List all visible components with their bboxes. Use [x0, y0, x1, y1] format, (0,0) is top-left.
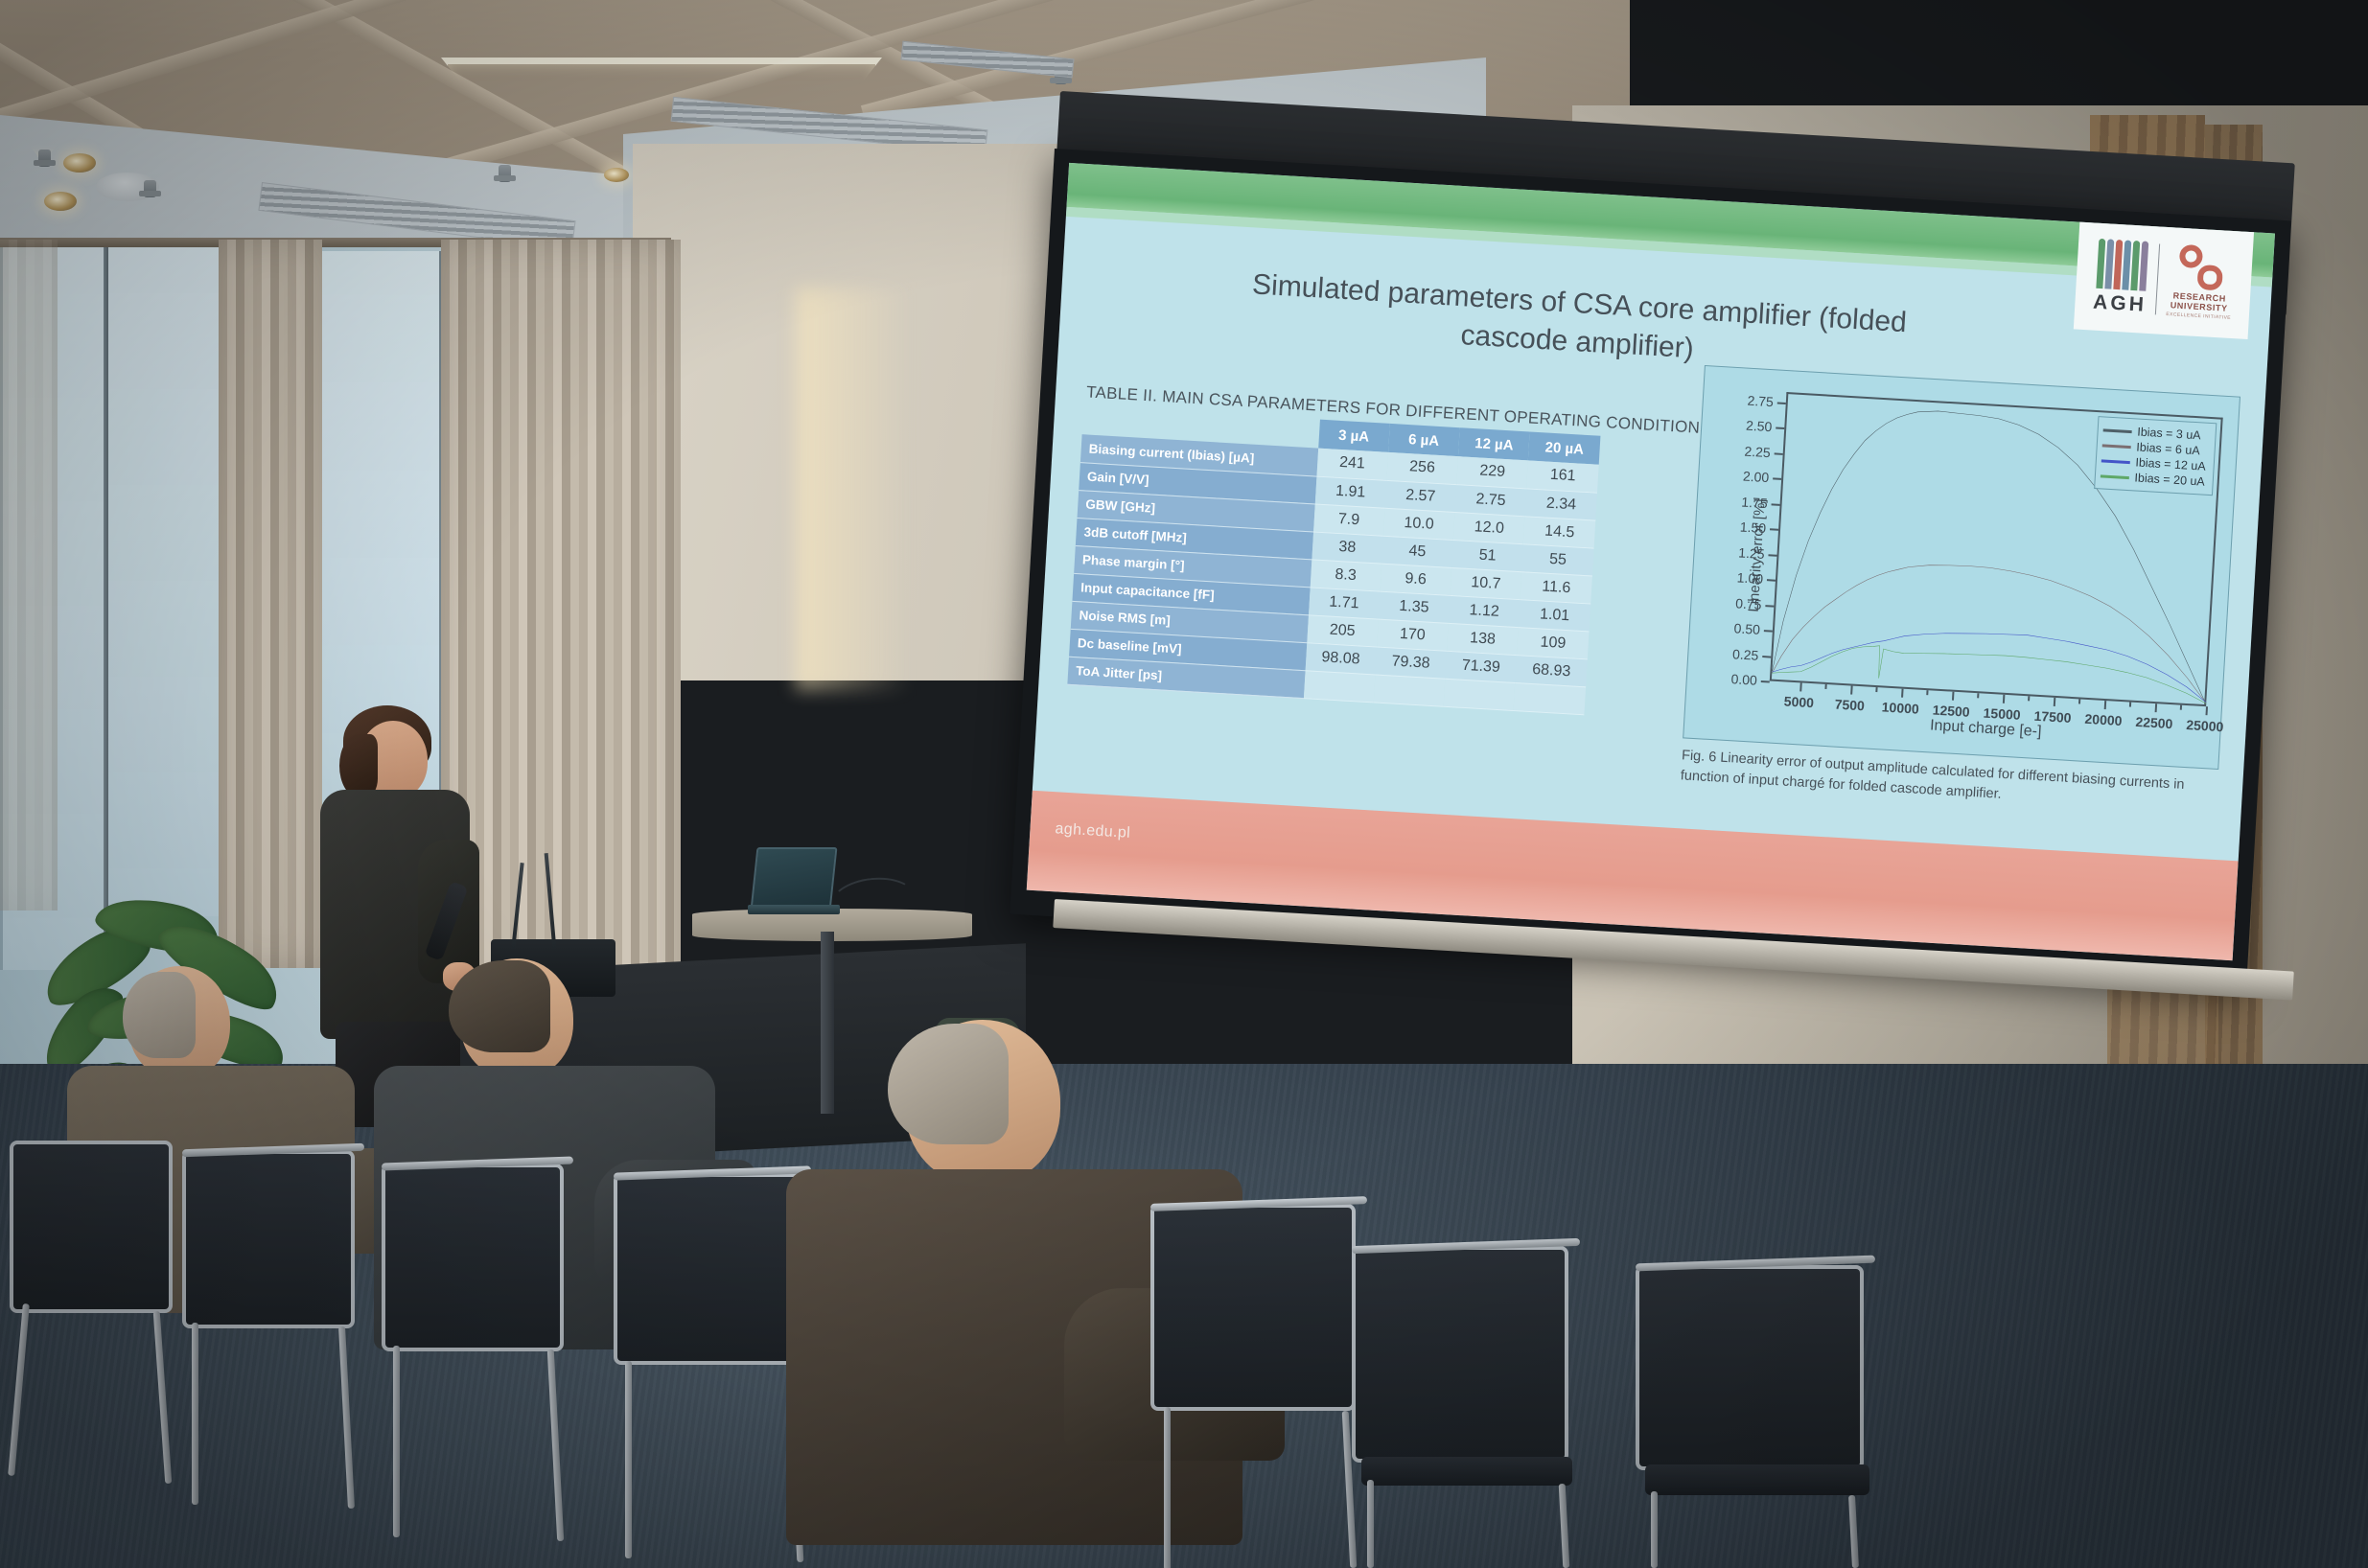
presenter-table-stem [821, 932, 834, 1114]
chart-y-tick-label: 2.75 [1747, 392, 1774, 409]
projection-screen: AGH RESEARCH UNIVERSITY EXCELLENCE INITI… [1010, 149, 2291, 986]
chair-leg-3a [393, 1346, 400, 1537]
linearity-error-chart: Linearity error [%] Ibias = 3 uAIbias = … [1683, 365, 2240, 770]
ru-line-3: EXCELLENCE INITIATIVE [2166, 311, 2231, 321]
table-cell: 9.6 [1380, 564, 1451, 595]
chart-x-tick-label: 5000 [1783, 693, 1814, 710]
table-cell: 1.91 [1314, 476, 1386, 508]
table-cell: 12.0 [1453, 512, 1525, 543]
chair-back-4 [614, 1173, 801, 1365]
chair-leg-2a [192, 1323, 198, 1505]
table-cell: 14.5 [1523, 516, 1595, 547]
ru-line-2: UNIVERSITY [2170, 300, 2227, 312]
chart-x-tick [2054, 698, 2056, 706]
laptop-base [748, 905, 840, 914]
chart-series-line [1772, 620, 2210, 703]
presentation-slide: AGH RESEARCH UNIVERSITY EXCELLENCE INITI… [1027, 163, 2275, 960]
chart-x-tick-minor [1927, 690, 1929, 695]
table-cell: 7.9 [1313, 503, 1385, 535]
wall-cove-light [796, 288, 911, 690]
ceiling-downlight-2 [44, 192, 77, 211]
table-cell: 10.7 [1450, 567, 1521, 599]
chart-x-tick-minor [1876, 687, 1878, 692]
sprinkler-head-4 [499, 165, 511, 182]
table-cell: 71.39 [1445, 651, 1517, 682]
chart-y-tick [1773, 477, 1781, 480]
window-mullion-1 [104, 242, 108, 970]
table-cell: 98.08 [1305, 642, 1377, 674]
chart-y-tick-label: 0.75 [1735, 595, 1762, 612]
chart-x-tick-minor [2180, 705, 2182, 710]
chart-legend-label: Ibias = 20 uA [2134, 471, 2205, 488]
institution-logo: AGH RESEARCH UNIVERSITY EXCELLENCE INITI… [2074, 219, 2254, 339]
table-cell: 138 [1447, 623, 1519, 655]
chair-back-5 [1150, 1204, 1356, 1411]
curtain-sheer [0, 240, 58, 911]
figure-block: Linearity error [%] Ibias = 3 uAIbias = … [1680, 365, 2240, 817]
chart-y-tick-label: 0.00 [1730, 671, 1757, 688]
table-body: Biasing current (Ibias) [µA]241256229161… [1067, 434, 1598, 714]
chart-x-tick-minor [1825, 684, 1827, 689]
chart-y-tick-label: 1.75 [1741, 494, 1768, 511]
chair-back-7 [1636, 1265, 1864, 1470]
chart-x-tick [1850, 685, 1853, 694]
chart-y-tick [1776, 427, 1784, 430]
agh-logo-text: AGH [2093, 290, 2147, 316]
laptop-lid [751, 847, 838, 911]
table-cell [1374, 674, 1446, 705]
chart-x-tick-label: 25000 [2186, 717, 2224, 734]
chart-y-tick [1762, 656, 1771, 658]
table-cell: 55 [1521, 543, 1593, 575]
chart-y-tick [1761, 680, 1770, 683]
table-cell: 79.38 [1375, 647, 1447, 679]
chart-x-tick [1799, 682, 1802, 691]
chart-y-tick [1777, 402, 1786, 404]
chart-y-tick-label: 2.25 [1744, 443, 1771, 460]
table-cell: 2.34 [1525, 488, 1597, 519]
chair-leg-6a [1367, 1480, 1374, 1568]
chart-x-tick-label: 17500 [2033, 708, 2072, 726]
chair-leg-7a [1651, 1491, 1658, 1568]
chart-y-tick [1768, 554, 1776, 557]
table-cell: 109 [1517, 627, 1589, 658]
chart-plot-area: Ibias = 3 uAIbias = 6 uAIbias = 12 uAIbi… [1770, 392, 2223, 706]
table-col-header: 12 µA [1458, 427, 1530, 460]
csa-parameters-table: 3 µA6 µA12 µA20 µA Biasing current (Ibia… [1067, 405, 1600, 715]
table-cell: 1.35 [1379, 591, 1451, 623]
chart-x-tick-minor [2028, 696, 2030, 701]
agh-columns-icon [2096, 238, 2148, 290]
chart-legend-swatch [2101, 459, 2129, 464]
chair-seat-7 [1645, 1464, 1869, 1495]
table-cell: 161 [1527, 460, 1599, 492]
ceiling-downlight-5 [604, 168, 629, 182]
chart-x-tick-minor [1978, 693, 1980, 698]
slide-title: Simulated parameters of CSA core amplifi… [1194, 263, 1963, 384]
table-cell: 8.3 [1310, 559, 1381, 590]
chart-x-tick [1952, 692, 1955, 701]
chart-legend: Ibias = 3 uAIbias = 6 uAIbias = 12 uAIbi… [2094, 416, 2217, 496]
table-cell: 10.0 [1383, 508, 1455, 540]
chart-legend-swatch [2101, 444, 2130, 449]
logo-divider [2155, 244, 2160, 315]
table-cell: 241 [1316, 449, 1388, 480]
chart-x-tick-label: 22500 [2135, 714, 2173, 731]
chair-seat-6 [1361, 1457, 1572, 1486]
table-col-header: 6 µA [1388, 424, 1460, 456]
chart-y-tick-label: 1.50 [1739, 519, 1766, 537]
table-cell: 11.6 [1521, 571, 1592, 603]
table-cell: 2.57 [1384, 480, 1456, 512]
chart-x-tick-minor [2129, 703, 2131, 707]
table-col-header: 3 µA [1318, 420, 1390, 452]
chart-y-tick-label: 2.50 [1746, 418, 1773, 435]
chart-series-line [1772, 639, 2208, 703]
chart-y-tick-label: 2.00 [1743, 469, 1770, 486]
table-cell: 170 [1377, 619, 1449, 651]
table-cell: 2.75 [1454, 484, 1526, 516]
chart-x-tick [2003, 695, 2006, 703]
chart-x-tick [2104, 701, 2107, 709]
chart-x-tick-label: 20000 [2084, 711, 2123, 728]
table-cell: 45 [1381, 536, 1453, 567]
chart-x-tick-label: 15000 [1983, 705, 2021, 723]
chart-y-tick [1772, 503, 1780, 506]
chart-x-tick [2206, 706, 2209, 715]
table-cell: 256 [1386, 452, 1458, 484]
chart-x-tick [2155, 703, 2158, 712]
table-cell: 1.71 [1309, 587, 1381, 618]
chart-y-tick [1764, 630, 1773, 633]
chart-x-tick-label: 10000 [1881, 699, 1919, 716]
table-cell [1303, 670, 1375, 702]
chair-leg-5a [1164, 1407, 1171, 1568]
chart-y-tick [1770, 528, 1778, 531]
table-col-header: 20 µA [1528, 431, 1600, 464]
chart-legend-swatch [2101, 474, 2129, 479]
chart-y-tick-label: 1.00 [1736, 569, 1763, 587]
chart-x-tick-label: 12500 [1932, 703, 1970, 720]
chair-back-1 [10, 1141, 173, 1313]
chart-x-tick [1901, 689, 1904, 698]
chart-y-tick [1765, 605, 1774, 608]
chair-back-6 [1352, 1246, 1568, 1463]
projection-screen-assembly: AGH RESEARCH UNIVERSITY EXCELLENCE INITI… [1055, 91, 2301, 1049]
ceiling-downlight-1 [63, 153, 96, 173]
chair-leg-4a [625, 1361, 632, 1558]
chart-y-tick-label: 0.50 [1733, 620, 1760, 637]
sprinkler-head-2 [144, 180, 156, 197]
chair-back-2 [182, 1150, 355, 1328]
chart-y-tick-label: 0.25 [1732, 646, 1759, 663]
table-cell [1444, 679, 1516, 710]
table-cell: 1.12 [1449, 595, 1521, 627]
table-cell: 38 [1312, 531, 1383, 563]
table-cell: 205 [1307, 614, 1379, 646]
research-university-logo: RESEARCH UNIVERSITY EXCELLENCE INITIATIV… [2166, 243, 2235, 321]
table-cell: 51 [1451, 540, 1523, 571]
table-cell: 1.01 [1519, 599, 1590, 631]
table-cell: 68.93 [1516, 655, 1588, 686]
sprinkler-head-1 [38, 150, 51, 167]
table-cell: 229 [1456, 456, 1528, 488]
chart-y-tick-label: 1.25 [1738, 544, 1765, 562]
chair-back-3 [382, 1164, 564, 1351]
agh-logo-mark: AGH [2093, 238, 2150, 316]
table-cell [1514, 682, 1586, 714]
chart-x-tick-minor [2078, 699, 2080, 703]
window-glass-2 [105, 245, 221, 916]
chart-x-tick-label: 7500 [1834, 697, 1865, 714]
chart-legend-swatch [2102, 428, 2131, 433]
curtain-left [219, 240, 322, 968]
chart-y-tick [1775, 452, 1783, 455]
research-university-glyph-icon [2178, 243, 2225, 290]
chart-y-tick [1767, 579, 1776, 582]
